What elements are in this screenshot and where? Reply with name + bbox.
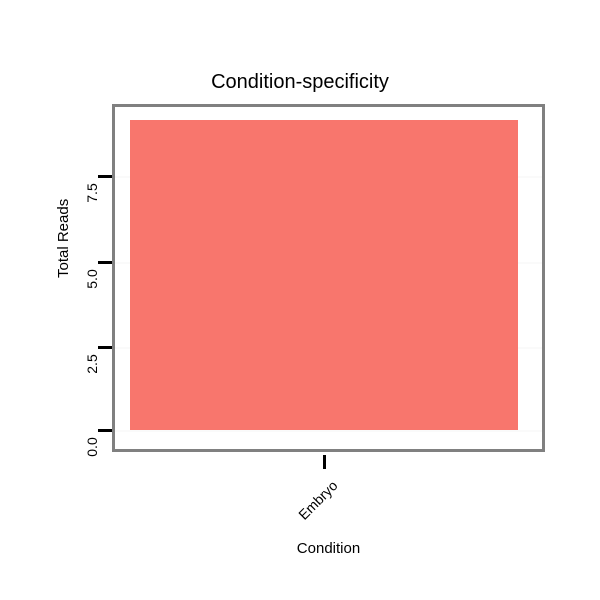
y-axis-tick-mark (98, 346, 112, 349)
gridline-major (115, 430, 542, 432)
chart-plot-area: Condition-specificity Total Reads 0.0 2.… (0, 0, 600, 600)
x-axis-tick-mark (323, 455, 326, 469)
y-axis-tick-mark (98, 261, 112, 264)
y-axis-tick-label: 7.5 (85, 176, 99, 210)
x-axis-title: Condition (112, 540, 545, 557)
x-axis-tick-label: Embryo (288, 478, 340, 530)
y-axis-tick-label: 5.0 (85, 262, 99, 296)
plot-panel-inner (115, 107, 542, 449)
bar-embryo (130, 120, 518, 430)
y-axis-tick-label: 0.0 (85, 430, 99, 464)
plot-panel (112, 104, 545, 452)
y-axis-tick-label: 2.5 (85, 347, 99, 381)
y-axis-tick-mark (98, 429, 112, 432)
chart-title: Condition-specificity (0, 71, 600, 93)
y-axis-tick-mark (98, 175, 112, 178)
